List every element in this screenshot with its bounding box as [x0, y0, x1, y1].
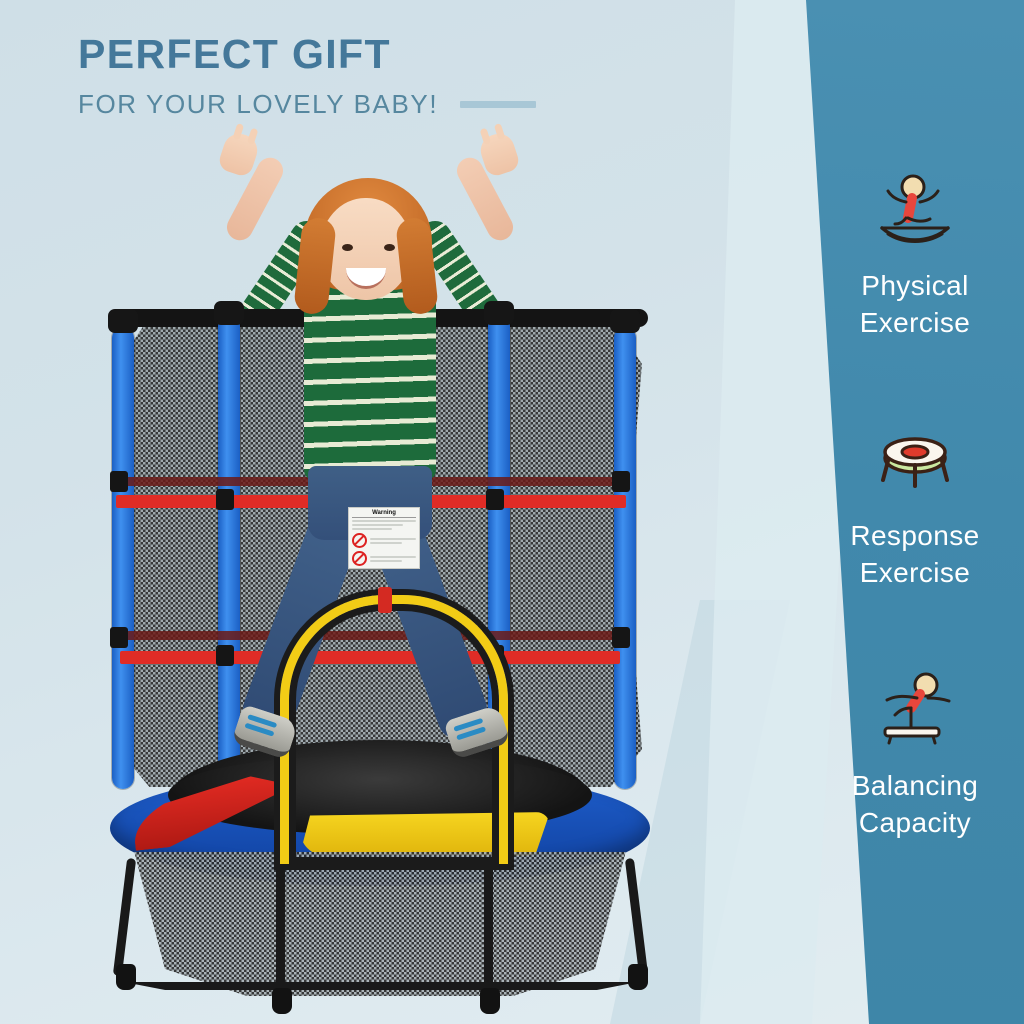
warning-label: Warning: [348, 507, 420, 569]
frame-leg-mid-right: [484, 858, 493, 998]
feature-label: Physical Exercise: [860, 268, 971, 342]
enclosure-door-zipper[interactable]: [378, 587, 392, 613]
feature-list: Physical Exercise Response Exercise: [806, 170, 1024, 842]
strap-clip-5: [110, 627, 128, 648]
headline-block: PERFECT GIFT FOR YOUR LOVELY BABY!: [78, 34, 536, 117]
person-balancing-on-beam-icon: [873, 670, 957, 746]
frame-foot-4: [628, 964, 648, 990]
page-title: PERFECT GIFT: [78, 34, 536, 75]
decorative-rule: [460, 101, 536, 108]
child-right-eye: [384, 244, 395, 251]
child-left-eye: [342, 244, 353, 251]
enclosure-pole-cap-3: [484, 301, 514, 325]
mini-trampoline-icon: [875, 420, 955, 496]
feature-item-balancing-capacity: Balancing Capacity: [806, 670, 1024, 842]
enclosure-pole-cap-1: [108, 309, 138, 333]
frame-crossbar: [124, 982, 638, 990]
subtitle-row: FOR YOUR LOVELY BABY!: [78, 91, 536, 117]
feature-label-line1: Physical: [860, 268, 971, 305]
strap-clip-8: [612, 627, 630, 648]
prohibition-icon-1: [352, 533, 367, 548]
strap-clip-4: [612, 471, 630, 492]
feature-label-line1: Response: [850, 518, 979, 555]
frame-foot-1: [116, 964, 136, 990]
page-subtitle: FOR YOUR LOVELY BABY!: [78, 91, 438, 117]
person-bouncing-on-trampoline-icon: [872, 170, 958, 246]
feature-label-line2: Capacity: [852, 805, 979, 842]
poster-canvas: PERFECT GIFT FOR YOUR LOVELY BABY!: [0, 0, 1024, 1024]
frame-leg-mid-left: [276, 858, 285, 998]
enclosure-pole-cap-2: [214, 301, 244, 325]
feature-label: Balancing Capacity: [852, 768, 979, 842]
feature-label: Response Exercise: [850, 518, 979, 592]
strap-clip-1: [110, 471, 128, 492]
enclosure-pole-cap-4: [610, 309, 640, 333]
strap-clip-2: [216, 489, 234, 510]
frame-foot-3: [480, 988, 500, 1014]
enclosure-pole-4: [614, 327, 636, 789]
enclosure-pole-1: [112, 327, 134, 789]
frame-foot-2: [272, 988, 292, 1014]
feature-item-response-exercise: Response Exercise: [806, 420, 1024, 592]
product-image: Warning: [80, 140, 680, 1000]
prohibition-icon-2: [352, 551, 367, 566]
strap-clip-6: [216, 645, 234, 666]
feature-label-line2: Exercise: [850, 555, 979, 592]
feature-item-physical-exercise: Physical Exercise: [806, 170, 1024, 342]
feature-label-line1: Balancing: [852, 768, 979, 805]
feature-label-line2: Exercise: [860, 305, 971, 342]
base-safety-skirt: [124, 852, 636, 1002]
warning-label-title: Warning: [352, 510, 416, 518]
strap-clip-3: [486, 489, 504, 510]
